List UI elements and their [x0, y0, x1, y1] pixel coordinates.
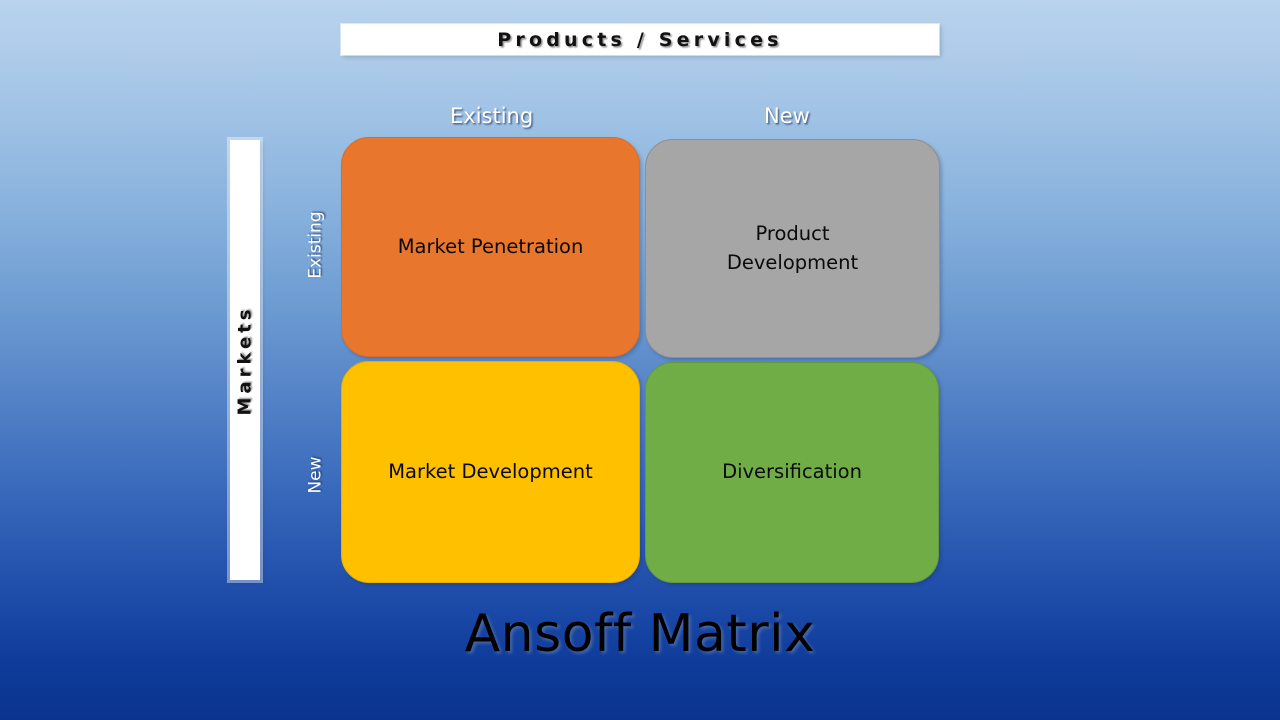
- quadrant-market-penetration[interactable]: Market Penetration: [341, 137, 640, 357]
- row-header-existing-label: Existing: [306, 211, 326, 278]
- ansoff-matrix-slide: Products / Services Existing New Markets…: [0, 0, 1280, 720]
- quadrant-product-development[interactable]: Product Development: [645, 139, 940, 358]
- quadrant-product-development-label: Product Development: [715, 220, 870, 278]
- quadrant-market-penetration-label: Market Penetration: [386, 233, 596, 262]
- row-header-new-label: New: [306, 456, 326, 493]
- quadrant-market-development-label: Market Development: [376, 458, 605, 487]
- slide-title: Ansoff Matrix: [0, 604, 1280, 664]
- markets-axis-label: Markets: [235, 305, 256, 415]
- products-services-banner: Products / Services: [341, 24, 939, 55]
- row-header-existing: Existing: [296, 190, 336, 300]
- quadrant-market-development[interactable]: Market Development: [341, 361, 640, 583]
- column-header-new: New: [764, 104, 810, 128]
- products-services-label: Products / Services: [497, 29, 782, 51]
- row-header-new: New: [296, 420, 336, 530]
- column-header-existing: Existing: [450, 104, 533, 128]
- markets-axis-bar: Markets: [230, 140, 260, 580]
- quadrant-diversification[interactable]: Diversification: [645, 362, 939, 583]
- quadrant-diversification-label: Diversification: [710, 458, 874, 487]
